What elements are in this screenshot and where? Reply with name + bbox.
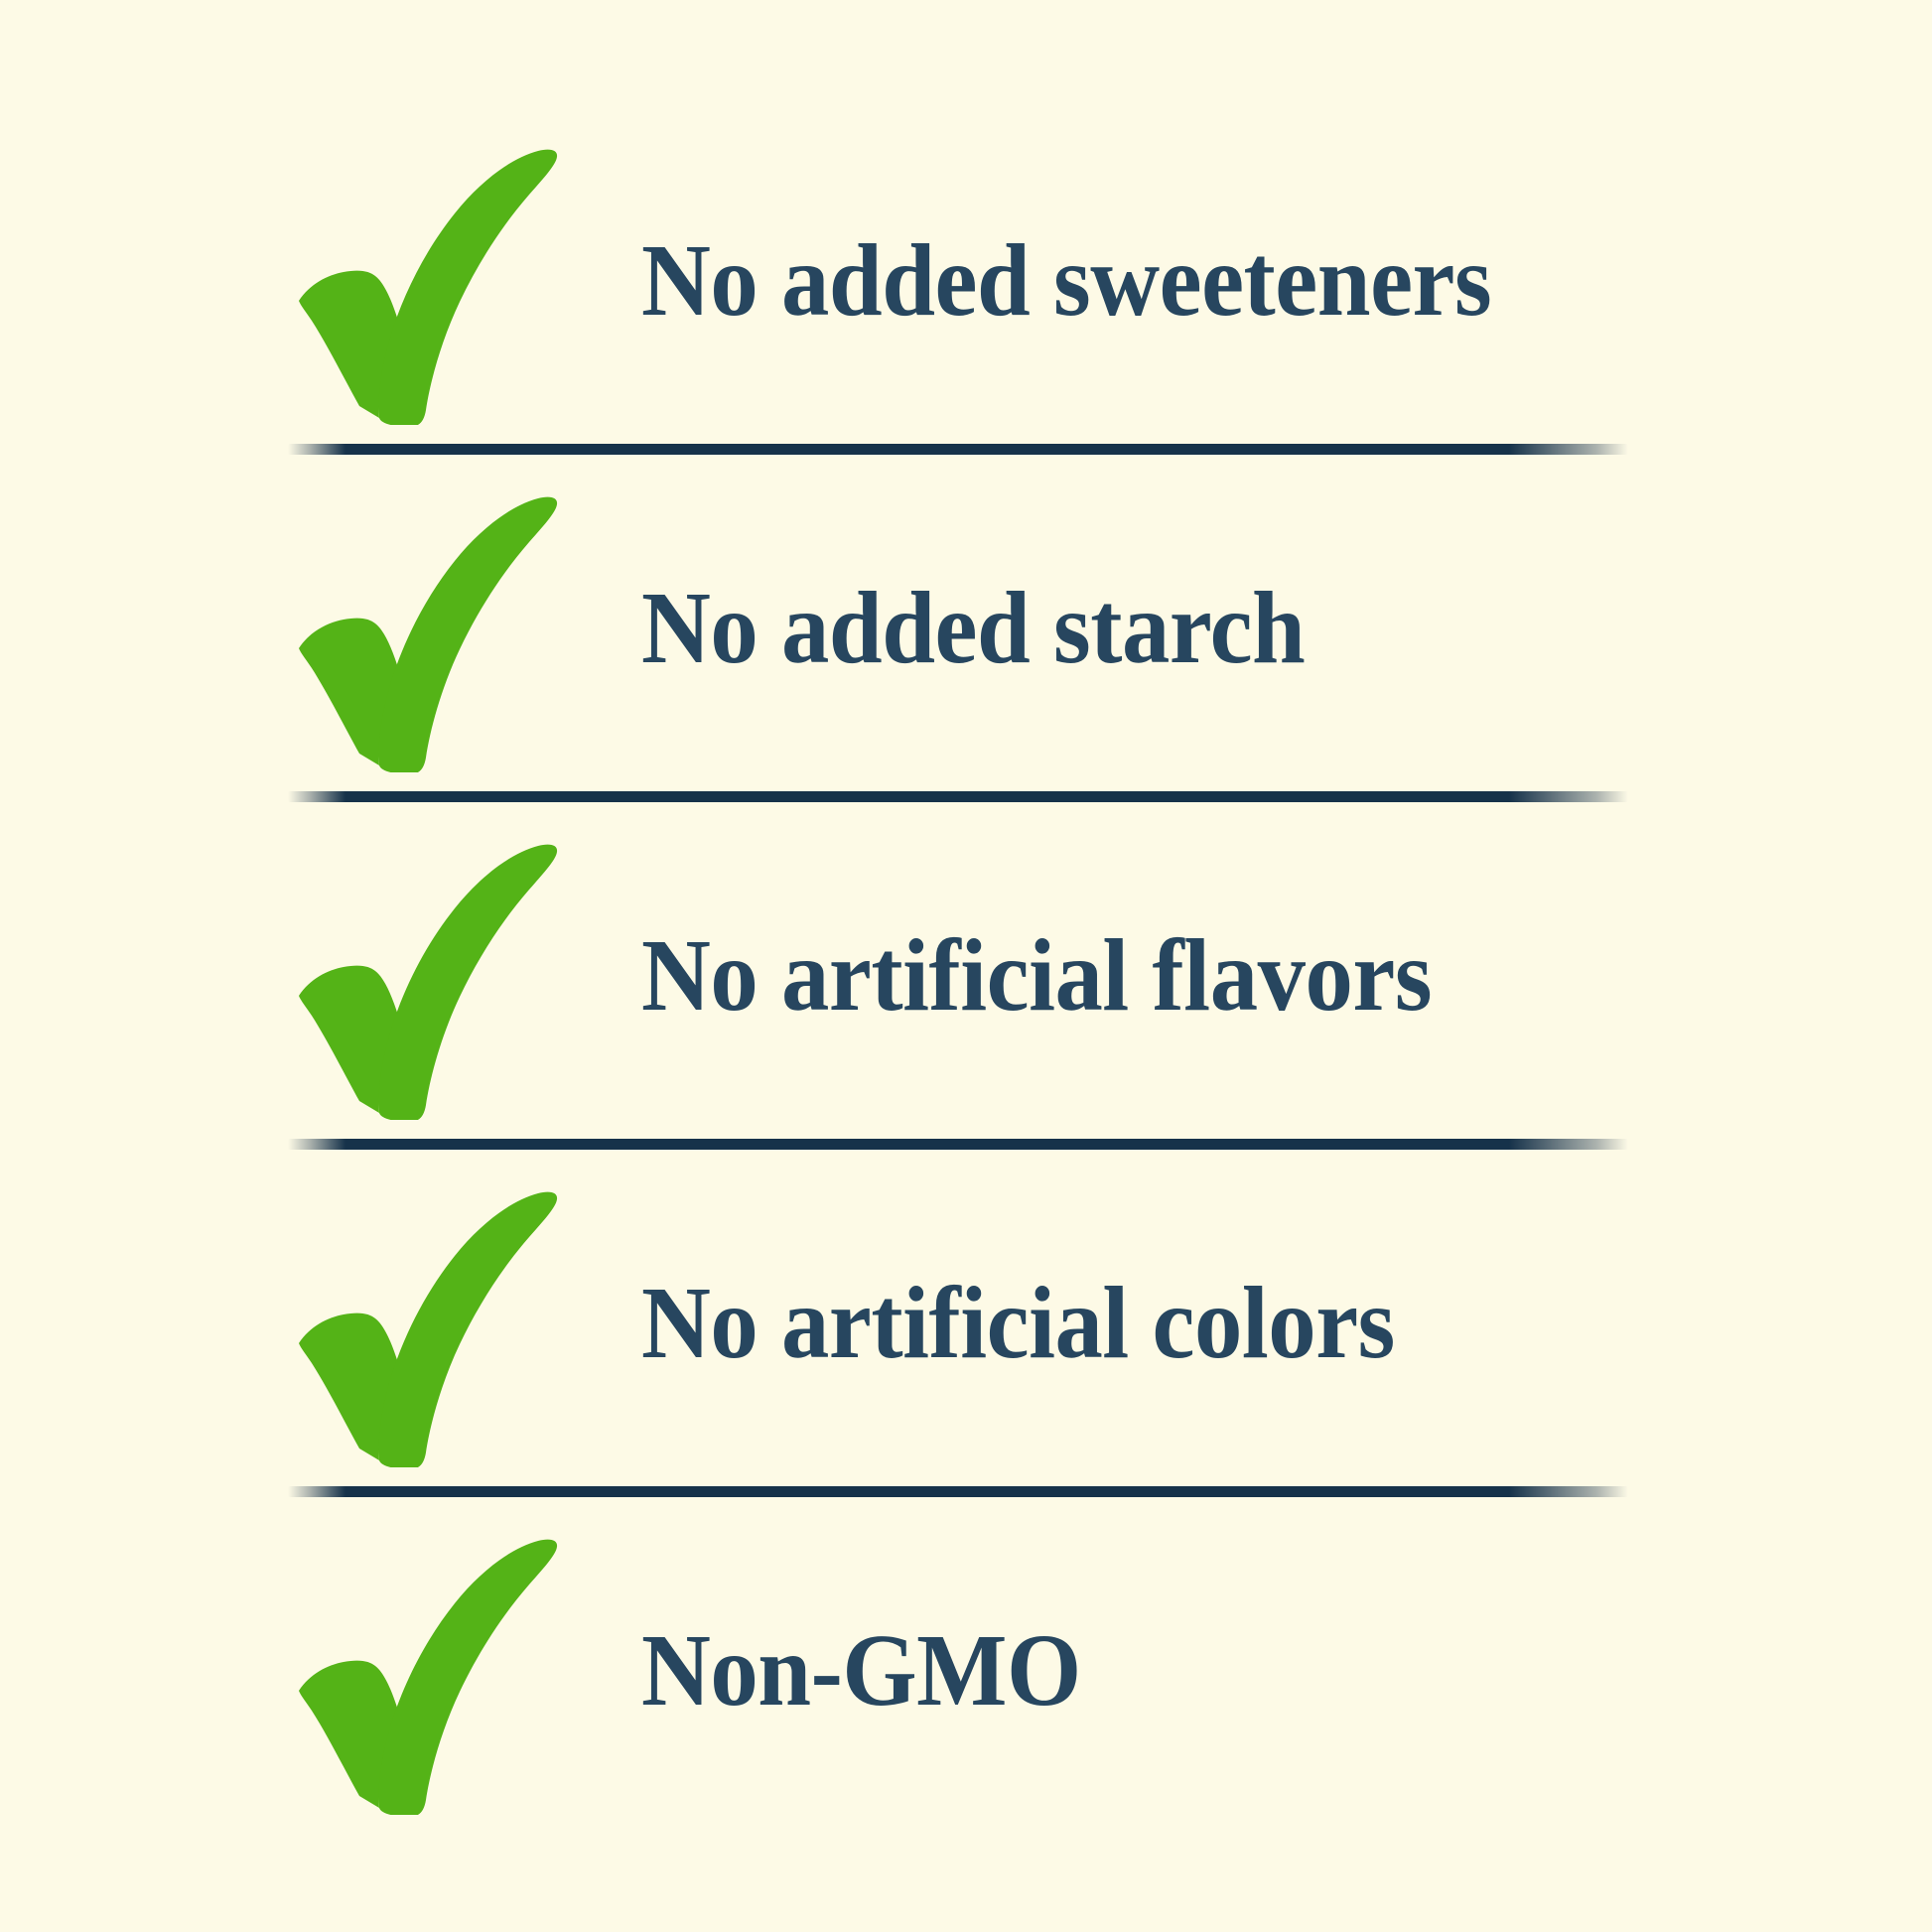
- label-cell: No added sweeteners: [625, 132, 1932, 430]
- green-checkmark-icon: [288, 832, 586, 1120]
- list-item[interactable]: Non-GMO: [0, 1497, 1932, 1845]
- row-divider: [288, 791, 1628, 802]
- list-item-label: Non-GMO: [641, 1618, 1081, 1724]
- checkmark-cell: [288, 1522, 625, 1820]
- row-divider: [288, 1139, 1628, 1150]
- list-item[interactable]: No added sweeteners: [0, 107, 1932, 455]
- label-cell: No added starch: [625, 480, 1932, 777]
- green-checkmark-icon: [288, 1527, 586, 1815]
- label-cell: No artificial colors: [625, 1174, 1932, 1472]
- checkmark-cell: [288, 827, 625, 1125]
- list-item[interactable]: No artificial colors: [0, 1150, 1932, 1497]
- list-item[interactable]: No artificial flavors: [0, 802, 1932, 1150]
- row-divider: [288, 444, 1628, 455]
- list-item-label: No artificial colors: [641, 1271, 1395, 1376]
- label-cell: Non-GMO: [625, 1522, 1932, 1820]
- list-item-label: No added sweeteners: [641, 228, 1491, 334]
- checkmark-cell: [288, 132, 625, 430]
- green-checkmark-icon: [288, 1179, 586, 1467]
- checkmark-cell: [288, 480, 625, 777]
- row-divider: [288, 1486, 1628, 1497]
- green-checkmark-icon: [288, 137, 586, 425]
- checklist: No added sweeteners No added starch: [0, 0, 1932, 1932]
- list-item[interactable]: No added starch: [0, 455, 1932, 802]
- checklist-graphic: No added sweeteners No added starch: [0, 0, 1932, 1932]
- checkmark-cell: [288, 1174, 625, 1472]
- list-item-label: No artificial flavors: [641, 923, 1432, 1029]
- label-cell: No artificial flavors: [625, 827, 1932, 1125]
- list-item-label: No added starch: [641, 576, 1305, 681]
- green-checkmark-icon: [288, 484, 586, 772]
